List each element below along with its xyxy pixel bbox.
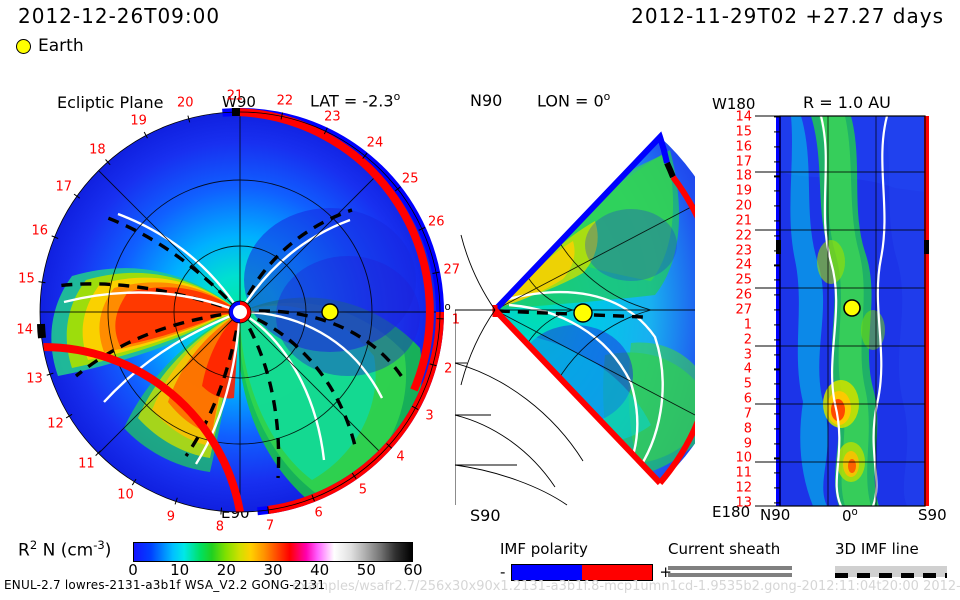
imf-line-swatch — [835, 566, 947, 577]
r1au-latitude-tick: 5 — [744, 378, 752, 391]
r1au-tick-mark — [774, 131, 780, 132]
r1au-tick-mark — [774, 339, 780, 340]
ecliptic-longitude-tick: 3 — [425, 409, 433, 422]
legend-imf-polarity: IMF polarity - + — [500, 542, 672, 581]
r1au-tick-mark — [774, 428, 780, 429]
ecliptic-longitude-tick: 19 — [130, 115, 147, 128]
earth-icon — [16, 39, 31, 54]
r1au-tick-mark — [774, 354, 780, 355]
r1au-tick-mark — [774, 384, 780, 385]
current-sheath-swatch — [668, 566, 792, 577]
ecliptic-longitude-tick: 13 — [26, 372, 43, 385]
ecliptic-longitude-tick: 16 — [31, 225, 48, 238]
r1au-tick-mark — [774, 235, 780, 236]
polarity-minus-label: - — [500, 565, 505, 580]
panel-r1au-title: R = 1.0 AU — [803, 95, 891, 111]
ecliptic-longitude-tick: 23 — [324, 110, 341, 123]
r1au-tick-mark — [774, 191, 780, 192]
r1au-latitude-tick: 7 — [744, 407, 752, 420]
ecliptic-plane-plot — [0, 80, 460, 530]
r1au-latitude-tick: 11 — [735, 467, 752, 480]
r1au-latitude-tick: 12 — [735, 482, 752, 495]
r1au-latitude-tick: 27 — [735, 304, 752, 317]
r1au-latitude-tick: 14 — [735, 111, 752, 124]
r1au-latitude-tick: 9 — [744, 437, 752, 450]
earth-legend-label: Earth — [38, 38, 84, 55]
colorbar-tick: 40 — [310, 563, 329, 578]
ecliptic-longitude-tick: 14 — [16, 323, 33, 336]
r1au-tick-mark — [774, 309, 780, 310]
r1au-latitude-tick: 10 — [735, 452, 752, 465]
colorbar-tick: 10 — [170, 563, 189, 578]
legend-current-sheath-title: Current sheath — [668, 542, 792, 557]
r1au-tick-mark — [774, 488, 780, 489]
ecliptic-longitude-tick: 7 — [266, 519, 274, 532]
ecliptic-longitude-tick: 10 — [117, 489, 134, 502]
r1au-tick-mark — [774, 398, 780, 399]
r1au-tick-mark — [774, 116, 780, 117]
r1au-latitude-tick: 1 — [744, 318, 752, 331]
ecliptic-longitude-tick: 4 — [396, 450, 404, 463]
earth-marker-meridional — [574, 304, 592, 322]
r1au-latitude-tick: 8 — [744, 422, 752, 435]
r1au-latitude-tick: 24 — [735, 259, 752, 272]
colorbar-tick: 30 — [263, 563, 282, 578]
r1au-tick-mark — [774, 443, 780, 444]
ecliptic-longitude-tick: 24 — [367, 137, 384, 150]
forecast-start-time: 2012-11-29T02 +27.27 days — [631, 6, 944, 26]
r1au-tick-mark — [774, 265, 780, 266]
earth-marker — [322, 304, 338, 320]
r1au-latitude-tick: 20 — [735, 200, 752, 213]
r1au-tick-mark — [774, 369, 780, 370]
ecliptic-longitude-tick: 21 — [227, 90, 244, 103]
ecliptic-longitude-tick: 2 — [444, 363, 452, 376]
r1au-latitude-tick: 13 — [735, 497, 752, 510]
ecliptic-longitude-tick: 17 — [56, 181, 73, 194]
r1au-longitude-tick: N90 — [760, 508, 790, 523]
r1au-longitude-tick: 0o — [842, 508, 858, 524]
ecliptic-longitude-tick: 26 — [428, 215, 445, 228]
meridional-plane-plot — [455, 105, 695, 515]
r1au-latitude-tick: 4 — [744, 363, 752, 376]
r1au-tick-mark — [774, 502, 780, 503]
earth-legend: Earth — [16, 38, 84, 55]
ecliptic-longitude-tick: 11 — [78, 457, 95, 470]
r1au-latitude-tick: 17 — [735, 155, 752, 168]
ecliptic-tick-mark — [436, 318, 443, 320]
r1au-tick-mark — [774, 220, 780, 221]
colorbar-tick: 0 — [128, 563, 138, 578]
r1au-tick-mark — [774, 280, 780, 281]
ecliptic-longitude-tick: 25 — [402, 173, 419, 186]
colorbar-tick: 50 — [357, 563, 376, 578]
r1au-latitude-tick: 3 — [744, 348, 752, 361]
ecliptic-longitude-tick: 22 — [277, 94, 294, 107]
r1au-tick-mark — [774, 250, 780, 251]
r1au-tick-mark — [774, 324, 780, 325]
colorbar-label: R2 N (cm-3) — [18, 540, 111, 560]
r1au-tick-mark — [774, 295, 780, 296]
ecliptic-longitude-tick: 8 — [216, 521, 224, 534]
r1au-latitude-tick: 23 — [735, 244, 752, 257]
colorbar-tick: 60 — [403, 563, 422, 578]
footer-watermark: examples/wsafr2.7/256x30x90x1.2131-a3b1f… — [292, 580, 960, 593]
r1au-latitude-tick: 25 — [735, 274, 752, 287]
colorbar-tick: 20 — [217, 563, 236, 578]
observation-time: 2012-12-26T09:00 — [18, 6, 220, 26]
r1au-latitude-tick: 15 — [735, 125, 752, 138]
ecliptic-longitude-tick: 20 — [177, 97, 194, 110]
r1au-tick-mark — [774, 161, 780, 162]
ecliptic-longitude-tick: 15 — [18, 273, 35, 286]
r1au-map-plot — [755, 112, 950, 512]
legend-current-sheath: Current sheath — [668, 542, 792, 577]
legend-imf-polarity-title: IMF polarity — [500, 542, 672, 557]
r1au-latitude-tick: 21 — [735, 214, 752, 227]
r1au-latitude-tick: 16 — [735, 140, 752, 153]
r1au-latitude-tick: 19 — [735, 185, 752, 198]
legend-3d-imf-line: 3D IMF line — [835, 542, 947, 577]
r1au-latitude-tick: 26 — [735, 289, 752, 302]
r1au-tick-mark — [774, 176, 780, 177]
ecliptic-longitude-tick: 12 — [47, 418, 64, 431]
density-colorbar — [133, 542, 413, 562]
r1au-latitude-tick: 18 — [735, 170, 752, 183]
r1au-tick-mark — [774, 146, 780, 147]
r1au-tick-mark — [774, 473, 780, 474]
r1au-latitude-tick: 22 — [735, 229, 752, 242]
r1au-tick-mark — [774, 413, 780, 414]
legend-3d-imf-line-title: 3D IMF line — [835, 542, 947, 557]
ecliptic-longitude-tick: 6 — [314, 507, 322, 520]
ecliptic-longitude-tick: 5 — [359, 483, 367, 496]
r1au-latitude-tick: 6 — [744, 393, 752, 406]
r1au-tick-mark — [774, 205, 780, 206]
r1au-latitude-tick: 2 — [744, 333, 752, 346]
footer-run-id: ENUL-2.7 lowres-2131-a3b1f WSA_V2.2 GONG… — [4, 579, 325, 591]
ecliptic-longitude-tick: 9 — [167, 510, 175, 523]
earth-marker-r1au — [844, 300, 860, 316]
ecliptic-longitude-tick: 18 — [89, 143, 106, 156]
r1au-tick-mark — [774, 458, 780, 459]
r1au-longitude-tick: S90 — [918, 508, 947, 523]
